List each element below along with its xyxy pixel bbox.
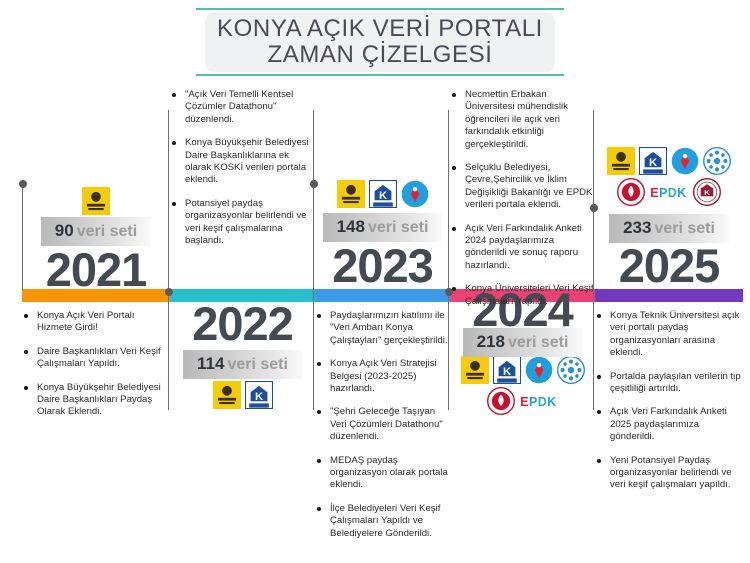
year-label-2023: 2023 <box>315 242 450 290</box>
milestone-list-2025: Konya Teknik Üniversitesi açık veri port… <box>595 310 743 503</box>
timeline-connector-2023 <box>313 184 314 290</box>
milestone-text: Konya Üniversiteleri Veri Keşif Çalışmal… <box>465 283 595 308</box>
koski-logo: K <box>245 381 273 409</box>
svg-text:K: K <box>547 395 556 409</box>
dataset-count-label: veri seti <box>508 334 568 351</box>
svg-text:D: D <box>537 395 546 409</box>
milestone-text: Yeni Potansiyel Paydaş organizasyonlar b… <box>610 455 743 492</box>
milestone-item: Necmettin Erbakan Üniversitesi mühendisl… <box>450 89 595 151</box>
medas-logo <box>671 147 699 175</box>
konya-buyuksehir-logo <box>337 180 365 208</box>
milestone-item: Daire Başkanlıkları Veri Keşif Çalışmala… <box>22 346 170 371</box>
milestone-item: Konya Büyükşehir Belediyesi Daire Başkan… <box>22 382 170 419</box>
header: KONYA AÇIK VERİ PORTALI ZAMAN ÇİZELGESİ <box>0 0 750 82</box>
cevre-sehircilik-bakanligi-logo <box>487 387 515 415</box>
milestone-list-2024: Necmettin Erbakan Üniversitesi mühendisl… <box>450 89 595 319</box>
partner-logos-2023: K <box>315 180 450 208</box>
cevre-sehircilik-bakanligi-logo <box>617 178 645 206</box>
milestone-text: Açık Veri Farkındalık Anketi 2025 paydaş… <box>610 406 743 443</box>
badge-body: 90veri seti <box>41 217 151 246</box>
title-line-2: ZAMAN ÇİZELGESİ <box>267 42 492 68</box>
timeline-column-2023: K148veri seti2023Paydaşlarımızın katılım… <box>315 84 450 563</box>
dataset-count-label: veri seti <box>368 219 428 236</box>
koski-logo: K <box>369 180 397 208</box>
year-label-2021: 2021 <box>22 246 170 294</box>
title-line-1: KONYA AÇIK VERİ PORTALI <box>217 16 543 42</box>
svg-text:K: K <box>704 188 710 197</box>
svg-text:K: K <box>502 366 510 378</box>
timeline-connector-2024 <box>448 256 449 292</box>
milestone-item: Potansiyel paydaş organizasyonlar belirl… <box>170 198 315 248</box>
dataset-count-label: veri seti <box>77 223 137 240</box>
milestone-item: Konya Teknik Üniversitesi açık veri port… <box>595 310 743 360</box>
milestone-text: MEDAŞ paydaş organizasyon olarak portala… <box>330 455 450 492</box>
konya-buyuksehir-logo <box>82 187 110 215</box>
milestone-text: Selçuklu Belediyesi, Çevre,Şehircilik ve… <box>465 162 595 212</box>
dataset-count-value: 114 <box>197 354 224 373</box>
koski-logo: K <box>493 356 521 384</box>
milestone-item: "Şehri Geleceğe Taşıyan Veri Çözümleri D… <box>315 406 450 443</box>
milestone-item: İlçe Belediyeleri Veri Keşif Çalışmaları… <box>315 503 450 540</box>
medas-logo <box>525 356 553 384</box>
milestone-text: Konya Teknik Üniversitesi açık veri port… <box>610 310 743 360</box>
dataset-count-label: veri seti <box>654 220 714 237</box>
badge-body: 114veri seti <box>183 350 302 379</box>
milestone-text: İlçe Belediyeleri Veri Keşif Çalışmaları… <box>330 503 450 540</box>
selcuklu-belediyesi-logo <box>557 356 585 384</box>
timeline-column-2024: KEPDK218veri seti2024Necmettin Erbakan Ü… <box>450 84 595 563</box>
milestone-item: Açık Veri Farkındalık Anketi 2024 paydaş… <box>450 223 595 273</box>
milestone-text: Konya Büyükşehir Belediyesi Daire Başkan… <box>37 382 170 419</box>
milestone-item: Konya Üniversiteleri Veri Keşif Çalışmal… <box>450 283 595 308</box>
milestone-text: Portalda paylaşılan verilerin tip çeşitl… <box>610 371 743 396</box>
timeline-columns: 90veri seti2021Konya Açık Veri Portalı H… <box>0 84 750 563</box>
milestone-item: Portalda paylaşılan verilerin tip çeşitl… <box>595 371 743 396</box>
milestone-text: "Şehri Geleceğe Taşıyan Veri Çözümleri D… <box>330 406 450 443</box>
timeline-column-2025: KEPDKK233veri seti2025Konya Teknik Ünive… <box>595 84 743 563</box>
milestone-text: Konya Büyükşehir Belediyesi Daire Başkan… <box>185 137 315 187</box>
milestone-text: Paydaşlarımızın katılımı ile "Veri Ambar… <box>330 310 450 347</box>
partner-logos-2024: KEPDK <box>450 356 595 415</box>
milestone-text: Konya Açık Veri Portalı Hizmete Girdi! <box>37 310 170 335</box>
konya-buyuksehir-logo <box>607 147 635 175</box>
milestone-item: "Açık Veri Temelli Kentsel Çözümler Data… <box>170 89 315 126</box>
timeline-column-2021: 90veri seti2021Konya Açık Veri Portalı H… <box>22 84 170 563</box>
svg-text:P: P <box>659 186 667 200</box>
konya-buyuksehir-logo <box>461 356 489 384</box>
svg-text:K: K <box>677 186 686 200</box>
milestone-text: Potansiyel paydaş organizasyonlar belirl… <box>185 198 315 248</box>
milestone-text: Konya Açık Veri Stratejisi Belgesi (2023… <box>330 358 450 395</box>
epdk-logo: EPDK <box>649 182 689 202</box>
svg-text:K: K <box>254 391 262 403</box>
dataset-count-value: 148 <box>337 217 365 236</box>
milestone-text: Açık Veri Farkındalık Anketi 2024 paydaş… <box>465 223 595 273</box>
timeline-connector-2022 <box>168 256 169 292</box>
partner-logos-2022: K <box>170 381 315 409</box>
milestone-item: Selçuklu Belediyesi, Çevre,Şehircilik ve… <box>450 162 595 212</box>
page-title: KONYA AÇIK VERİ PORTALI ZAMAN ÇİZELGESİ <box>205 12 555 72</box>
svg-text:E: E <box>520 395 528 409</box>
dataset-count-label: veri seti <box>227 356 287 373</box>
milestone-item: MEDAŞ paydaş organizasyon olarak portala… <box>315 455 450 492</box>
konya-buyuksehir-logo <box>213 381 241 409</box>
timeline-infographic: KONYA AÇIK VERİ PORTALI ZAMAN ÇİZELGESİ … <box>0 0 750 563</box>
timeline-connector-2021 <box>22 184 23 290</box>
header-rule-top <box>196 8 564 10</box>
badge-body: 148veri seti <box>323 213 443 242</box>
koski-logo: K <box>639 147 667 175</box>
milestone-text: "Açık Veri Temelli Kentsel Çözümler Data… <box>185 89 315 126</box>
milestone-item: Konya Büyükşehir Belediyesi Daire Başkan… <box>170 137 315 187</box>
konya-teknik-universitesi-logo: K <box>693 178 721 206</box>
milestone-text: Daire Başkanlıkları Veri Keşif Çalışmala… <box>37 346 170 371</box>
milestone-item: Yeni Potansiyel Paydaş organizasyonlar b… <box>595 455 743 492</box>
epdk-logo: EPDK <box>519 391 559 411</box>
dataset-count-value: 233 <box>623 218 651 237</box>
svg-text:K: K <box>649 157 657 169</box>
medas-logo <box>401 180 429 208</box>
timeline-column-2022: K114veri seti2022"Açık Veri Temelli Kent… <box>170 84 315 563</box>
header-rule-bottom <box>196 74 564 76</box>
svg-text:E: E <box>650 186 658 200</box>
svg-text:D: D <box>668 186 677 200</box>
dataset-count-badge-2022: 114veri seti <box>170 350 315 379</box>
svg-text:P: P <box>529 395 537 409</box>
milestone-list-2021: Konya Açık Veri Portalı Hizmete Girdi!Da… <box>22 310 170 430</box>
partner-logos-2021 <box>22 187 170 215</box>
year-label-2022: 2022 <box>170 300 315 348</box>
dataset-count-value: 90 <box>55 221 74 240</box>
milestone-item: Paydaşlarımızın katılımı ile "Veri Ambar… <box>315 310 450 347</box>
milestone-text: Necmettin Erbakan Üniversitesi mühendisl… <box>465 89 595 151</box>
svg-text:K: K <box>378 190 386 202</box>
timeline-connector-2025 <box>593 208 594 290</box>
selcuklu-belediyesi-logo <box>703 147 731 175</box>
dataset-count-badge-2023: 148veri seti <box>315 213 450 242</box>
year-label-2025: 2025 <box>595 242 743 290</box>
partner-logos-2025: KEPDKK <box>595 147 743 206</box>
dataset-count-badge-2021: 90veri seti <box>22 217 170 246</box>
milestone-item: Açık Veri Farkındalık Anketi 2025 paydaş… <box>595 406 743 443</box>
milestone-item: Konya Açık Veri Stratejisi Belgesi (2023… <box>315 358 450 395</box>
milestone-list-2023: Paydaşlarımızın katılımı ile "Veri Ambar… <box>315 310 450 551</box>
milestone-item: Konya Açık Veri Portalı Hizmete Girdi! <box>22 310 170 335</box>
milestone-list-2022: "Açık Veri Temelli Kentsel Çözümler Data… <box>170 89 315 258</box>
